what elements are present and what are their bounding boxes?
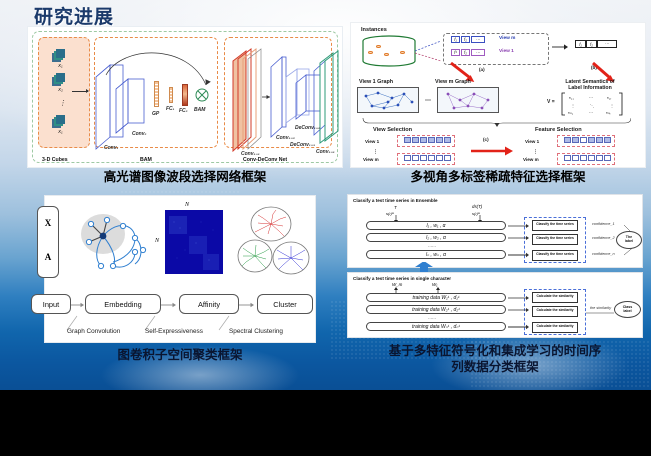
conv2-label: Conv₂ — [132, 131, 146, 137]
feature-cell: f¹ — [451, 49, 460, 56]
feature-cell-ellipsis: ⋯ — [471, 36, 485, 43]
conv12-label: Conv₁₋₂ — [276, 135, 295, 141]
training-row-2: training data W₂¹ , d₂¹ — [366, 305, 506, 314]
latent-matrix: v₁₁ ⋯ v₁ᵣ ⋮ ⋱ ⋮ vₙ₁ ⋯ vₙᵣ — [561, 91, 625, 117]
svg-text:⋮: ⋮ — [571, 103, 575, 108]
pipeline-arrow — [161, 300, 179, 310]
output-cell: f₁ — [575, 40, 586, 48]
view1-graph — [357, 87, 419, 113]
input-cube — [52, 115, 65, 128]
similarity-box-1: Calculate the similarity — [532, 292, 578, 303]
fc1-label: FC₁ — [166, 106, 174, 112]
similarity-box-2: Calculate the similarity — [532, 306, 578, 317]
lower-result-line2: label — [615, 309, 640, 313]
input-matrix-box — [37, 206, 59, 278]
affinity-axis-n-top: N — [185, 202, 189, 208]
graph-svg — [438, 88, 500, 114]
symbol-dsT: ds(T) — [472, 204, 482, 209]
embedding-graph — [73, 204, 153, 282]
affinity-noise — [165, 210, 223, 274]
lower-result-oval: Class label — [614, 301, 641, 318]
feature-row-2: l₂ , w₂ , α — [366, 233, 506, 242]
feature-row-1: l₁ , w₁ , α — [366, 221, 506, 230]
page-title: 研究进展 — [34, 2, 114, 29]
caption-top-right: 多视角多标签稀疏特征选择框架 — [350, 170, 646, 184]
fc2-bar — [182, 84, 188, 106]
bam-multiply-icon — [194, 87, 212, 105]
deconv12-label: DeConv₁₋₂ — [295, 125, 320, 131]
feature-selection-title: Feature Selection — [535, 127, 582, 133]
training-row-1: training data W₁¹ , d₁¹ — [366, 293, 506, 302]
feature-row-n: lₙ , wₙ , α — [366, 250, 506, 259]
caption-top-left: 高光谱图像波段选择网络框架 — [27, 170, 343, 184]
conv-out-label: Conv₁₋₁ — [316, 149, 335, 155]
rows-ellipsis: ⋯⋯ — [428, 244, 436, 249]
transition-graph-convolution: Graph Convolution — [67, 328, 120, 335]
view1-graph-title: View 1 Graph — [359, 79, 393, 85]
vs-row-label-dots: ⋮ — [373, 149, 378, 155]
input-cube — [52, 73, 65, 86]
view-1-label: View 1 — [499, 49, 514, 54]
svg-text:v₁₁: v₁₁ — [569, 95, 574, 100]
matrix-symbol: V = — [547, 99, 555, 105]
row-to-similarity-arrows — [508, 291, 532, 337]
input-cube — [52, 49, 65, 62]
transition-spectral-clustering: Spectral Clustering — [229, 328, 283, 335]
fs-row-label-1: View 1 — [525, 139, 539, 144]
caption-bottom-right-line1: 基于多特征符号化和集成学习的时间序 — [347, 344, 643, 360]
training-row-n: training data Wₙ¹ , dₙ¹ — [366, 322, 506, 331]
group-label-convdeconv: Conv-DeConv Net — [243, 157, 287, 163]
output-cell: f₂ — [586, 40, 597, 48]
panel-ensemble-classification: Classify a test time series in Ensemble … — [347, 194, 643, 268]
subfig-c-label: (c) — [483, 137, 489, 142]
svg-text:⋯: ⋯ — [589, 95, 593, 100]
caption-bottom-right-line2: 列数据分类框架 — [347, 360, 643, 376]
fs-row-label-m: View m — [523, 157, 539, 162]
output-cell-ellipsis: ⋯ — [597, 40, 617, 48]
stage-input: Input — [31, 294, 71, 314]
classify-box-2: Classify the time series — [532, 234, 578, 245]
graph-svg — [358, 88, 420, 114]
instance-to-views-arrows — [413, 37, 445, 63]
input-A-label: A — [37, 252, 59, 262]
pipeline-arrow — [71, 300, 87, 310]
svg-text:⋮: ⋮ — [610, 103, 614, 108]
input-label-2: X₂ — [58, 87, 63, 92]
feature-cell-ellipsis: ⋯ — [471, 49, 485, 56]
merge-brace — [361, 115, 631, 127]
viewm-graph — [437, 87, 499, 113]
affinity-matrix-image — [165, 210, 223, 274]
stage-cluster: Cluster — [257, 294, 313, 314]
gp-bar — [154, 81, 159, 107]
arrow-c — [469, 143, 517, 157]
feature-cell: f₂ — [461, 36, 470, 43]
panel-graph-conv-subspace-clustering: X A — [44, 195, 316, 343]
p4b-title: Classify a test time series in single ch… — [353, 276, 451, 281]
fc1-bar — [169, 87, 173, 103]
input-X-label: X — [37, 218, 59, 228]
input-ellipsis: ⋮ — [59, 99, 66, 107]
p4a-title: Classify a test time series in Ensemble — [353, 198, 438, 203]
panel-hyperspectral-band-selection: X₁ X₂ ⋮ X₁ Conv₁ Conv₂ GP FC₁ FC₂ — [27, 26, 343, 168]
panel-single-classifier: Classify a test time series in single ch… — [347, 272, 643, 338]
result-line2: label — [617, 239, 641, 243]
conv1-label: Conv₁ — [104, 145, 118, 151]
rows-ellipsis: ⋯⋯ — [428, 316, 436, 321]
view-m-label: View m — [499, 36, 515, 41]
similarity-box-n: Calculate the similarity — [532, 322, 578, 333]
input-label-1: X₁ — [58, 63, 63, 68]
affinity-axis-n-left: N — [155, 238, 159, 244]
deconv11-label: DeConv₁₋₁ — [290, 142, 315, 148]
viewm-graph-title: View m Graph — [435, 79, 471, 85]
result-label-oval: The label — [616, 231, 642, 249]
caption-bottom-right: 基于多特征符号化和集成学习的时间序 列数据分类框架 — [347, 344, 643, 375]
feature-cell: f₂ — [461, 49, 470, 56]
slide-canvas: 研究进展 X₁ X₂ ⋮ X₁ Conv₁ Conv₂ GP — [0, 0, 651, 390]
panel-multiview-feature-selection: Instances f₁ f₂ ⋯ View m f¹ f₂ ⋯ View 1 … — [350, 22, 646, 168]
group-label-cubes: 3-D Cubes — [42, 157, 68, 163]
stage-affinity: Affinity — [179, 294, 239, 314]
classify-box-1: Classify the time series — [532, 220, 578, 231]
row-to-classifier-arrows — [508, 219, 532, 265]
stage-embedding: Embedding — [85, 294, 161, 314]
gp-label: GP — [152, 111, 159, 117]
view-selection-title: View Selection — [373, 127, 412, 133]
svg-text:v₁ᵣ: v₁ᵣ — [607, 95, 611, 100]
transition-self-expressiveness: Self-Expressiveness — [145, 328, 203, 335]
cluster-visual — [237, 204, 315, 282]
arrow — [72, 91, 88, 92]
arrow-to-b — [551, 41, 571, 53]
subfig-a-label: (a) — [479, 67, 485, 72]
vs-row-label-m: View m — [363, 157, 379, 162]
classify-box-n: Classify the time series — [532, 250, 578, 261]
input-label-3: X₁ — [58, 129, 63, 134]
fs-row-label-dots: ⋮ — [533, 149, 538, 155]
caption-bottom-left: 图卷积子空间聚类框架 — [44, 348, 316, 362]
svg-text:⋱: ⋱ — [590, 103, 594, 108]
instances-label: Instances — [361, 27, 387, 33]
group-label-bam: BAM — [140, 157, 152, 163]
bam-label: BAM — [194, 107, 205, 113]
graph-ellipsis: ⋯ — [425, 97, 431, 104]
vs-row-label-1: View 1 — [365, 139, 379, 144]
feature-cell: f₁ — [451, 36, 460, 43]
fc2-label: FC₂ — [179, 108, 188, 114]
symbol-T: T — [394, 205, 397, 210]
pipeline-arrow — [239, 300, 257, 310]
